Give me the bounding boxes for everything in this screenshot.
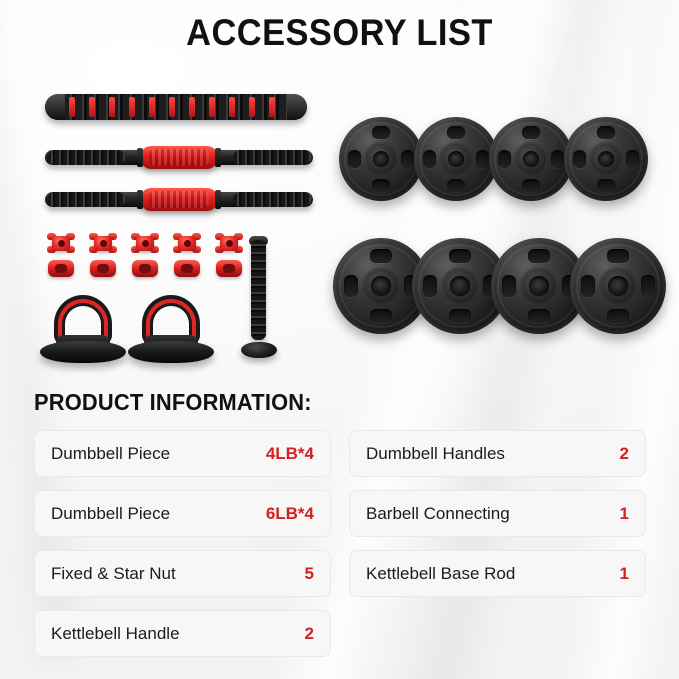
plate-slot <box>597 126 615 139</box>
item-label: Dumbbell Piece <box>51 444 170 464</box>
grip-red-band <box>129 97 135 117</box>
star-nut <box>215 232 243 254</box>
product-information-heading: PRODUCT INFORMATION: <box>34 389 312 416</box>
kettlebell-handle-right <box>128 295 214 367</box>
product-information-right-column: Dumbbell Handles 2 Barbell Connecting 1 … <box>349 430 646 657</box>
star-nut <box>47 232 75 254</box>
handle-thread-right <box>233 192 311 207</box>
fixed-nut <box>90 260 116 277</box>
rod-shaft <box>251 240 266 340</box>
fixed-nut <box>216 260 242 277</box>
item-label: Fixed & Star Nut <box>51 564 176 584</box>
grip-red-band <box>249 97 255 117</box>
list-item: Dumbbell Piece 6LB*4 <box>34 490 331 537</box>
item-label: Dumbbell Handles <box>366 444 505 464</box>
plate-slot <box>502 275 516 296</box>
list-item: Dumbbell Piece 4LB*4 <box>34 430 331 477</box>
item-value: 4LB*4 <box>266 444 314 464</box>
plate-slot <box>641 275 655 296</box>
fixed-nut-bore <box>139 264 151 273</box>
plate-slot <box>476 150 489 168</box>
plate-slot <box>447 126 465 139</box>
product-photo <box>0 70 679 380</box>
grip-cap-right <box>287 94 307 120</box>
plate-slot <box>498 150 511 168</box>
grip-red-band <box>169 97 175 117</box>
fixed-nut <box>132 260 158 277</box>
plate-slot <box>573 150 586 168</box>
plate-slot <box>551 150 564 168</box>
plate-slot <box>528 249 549 263</box>
grip-red-band <box>229 97 235 117</box>
star-nut-hole <box>184 240 191 247</box>
handle-red-grip <box>141 188 217 211</box>
star-nut-hole <box>226 240 233 247</box>
item-label: Kettlebell Handle <box>51 624 180 644</box>
plate-slot <box>528 309 549 323</box>
grip-red-band <box>149 97 155 117</box>
kettlebell-base-rod <box>245 240 271 358</box>
fixed-nut-bore <box>97 264 109 273</box>
grip-red-band <box>269 97 275 117</box>
product-information-grid: Dumbbell Piece 4LB*4 Dumbbell Piece 6LB*… <box>34 430 646 657</box>
handle-thread-left <box>47 192 125 207</box>
plate-bore <box>608 276 627 295</box>
plate-bore <box>529 276 548 295</box>
handle-thread-left <box>47 150 125 165</box>
grip-red-band <box>69 97 75 117</box>
plate-bore <box>450 276 469 295</box>
kettlebell-handle-left <box>40 295 126 367</box>
fixed-nut <box>174 260 200 277</box>
plate-slot <box>370 309 391 323</box>
list-item: Kettlebell Handle 2 <box>34 610 331 657</box>
weight-plate <box>339 117 423 201</box>
item-label: Kettlebell Base Rod <box>366 564 515 584</box>
star-nut <box>89 232 117 254</box>
list-item: Fixed & Star Nut 5 <box>34 550 331 597</box>
handle-knurl <box>149 149 209 166</box>
plate-slot <box>372 126 390 139</box>
weight-plate <box>570 238 666 334</box>
plate-slot <box>423 150 436 168</box>
plate-slot <box>370 249 391 263</box>
item-value: 2 <box>620 444 629 464</box>
list-item: Dumbbell Handles 2 <box>349 430 646 477</box>
list-item: Barbell Connecting 1 <box>349 490 646 537</box>
weight-plate <box>564 117 648 201</box>
accessory-list-page: ACCESSORY LIST <box>0 0 679 679</box>
item-value: 2 <box>305 624 314 644</box>
grip-red-band <box>189 97 195 117</box>
kettlebell-base <box>40 341 126 363</box>
rod-foot <box>241 342 277 358</box>
item-value: 5 <box>305 564 314 584</box>
fixed-nut-bore <box>55 264 67 273</box>
plate-slot <box>522 126 540 139</box>
handle-thread-right <box>233 150 311 165</box>
plate-slot <box>607 249 628 263</box>
star-nut-hole <box>142 240 149 247</box>
handle-knurl <box>149 191 209 208</box>
handle-red-grip <box>141 146 217 169</box>
product-information-left-column: Dumbbell Piece 4LB*4 Dumbbell Piece 6LB*… <box>34 430 331 657</box>
plate-slot <box>372 179 390 192</box>
plate-slot <box>449 309 470 323</box>
star-nut-hole <box>100 240 107 247</box>
weight-plate <box>489 117 573 201</box>
plate-slot <box>581 275 595 296</box>
plate-bore <box>371 276 390 295</box>
dumbbell-handle-lower <box>45 188 313 210</box>
plate-slot <box>522 179 540 192</box>
plate-slot <box>401 150 414 168</box>
weight-plate <box>414 117 498 201</box>
grip-cap-left <box>45 94 65 120</box>
item-value: 6LB*4 <box>266 504 314 524</box>
plate-slot <box>447 179 465 192</box>
plate-slot <box>423 275 437 296</box>
item-value: 1 <box>620 504 629 524</box>
grip-red-band <box>209 97 215 117</box>
fixed-nut-bore <box>223 264 235 273</box>
list-item: Kettlebell Base Rod 1 <box>349 550 646 597</box>
plate-slot <box>626 150 639 168</box>
grip-red-band <box>89 97 95 117</box>
plate-slot <box>449 249 470 263</box>
plate-slot <box>597 179 615 192</box>
plate-slot <box>607 309 628 323</box>
star-nut <box>173 232 201 254</box>
barbell-grip-bar <box>45 94 307 120</box>
star-nut-hole <box>58 240 65 247</box>
fixed-nut <box>48 260 74 277</box>
grip-red-band <box>109 97 115 117</box>
fixed-nut-bore <box>181 264 193 273</box>
dumbbell-handle-upper <box>45 146 313 168</box>
page-title: ACCESSORY LIST <box>24 12 655 54</box>
grip-ribs <box>63 94 289 120</box>
item-label: Dumbbell Piece <box>51 504 170 524</box>
star-nut <box>131 232 159 254</box>
kettlebell-base <box>128 341 214 363</box>
item-value: 1 <box>620 564 629 584</box>
plate-slot <box>348 150 361 168</box>
plate-slot <box>344 275 358 296</box>
item-label: Barbell Connecting <box>366 504 510 524</box>
